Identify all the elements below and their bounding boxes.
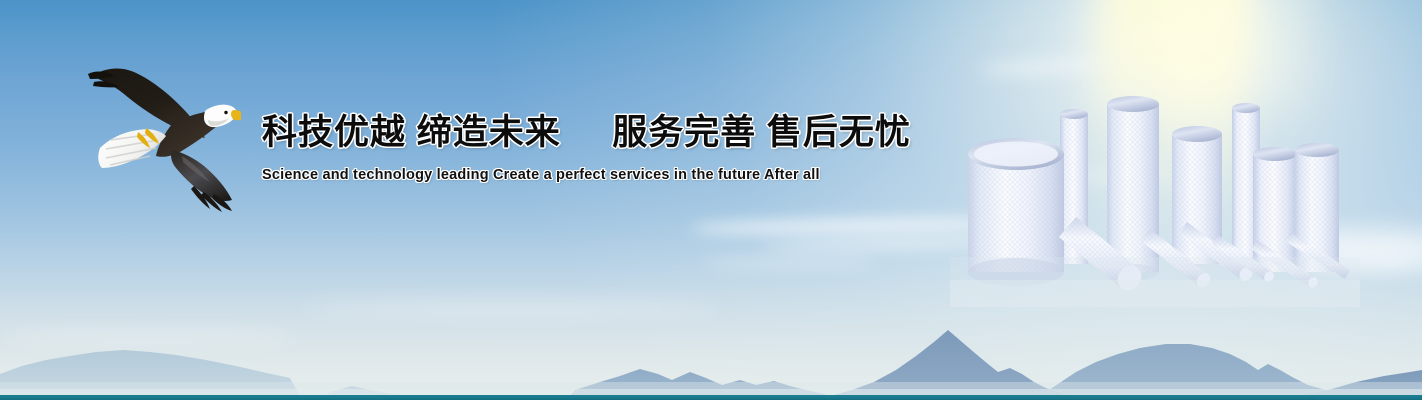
banner-text-block: 科技优越 缔造未来 服务完善 售后无忧 Science and technolo… [262,114,902,183]
filter-cartridge-products [950,92,1360,307]
bottom-accent-strip [0,395,1422,400]
eagle-eye [224,111,227,114]
bald-eagle-icon [76,52,241,227]
banner-headline: 科技优越 缔造未来 服务完善 售后无忧 [262,114,902,151]
hero-banner: 科技优越 缔造未来 服务完善 售后无忧 Science and technolo… [0,0,1422,400]
headline-phrase-2: 服务完善 售后无忧 [612,113,911,152]
banner-subtitle: Science and technology leading Create a … [262,167,902,183]
headline-phrase-1: 科技优越 缔造未来 [262,113,561,152]
